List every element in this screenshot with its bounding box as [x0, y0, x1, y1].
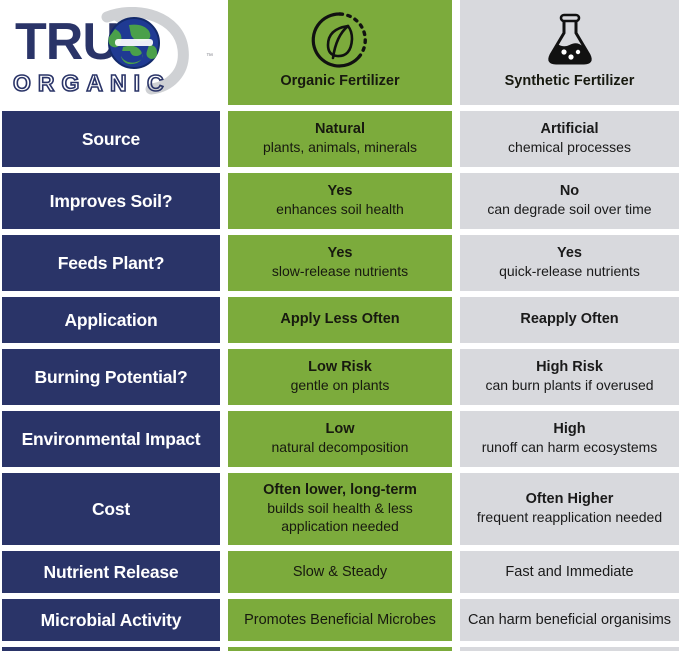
row-organic-cell: Promotes Beneficial Microbes — [228, 599, 452, 641]
cell-sub-text: runoff can harm ecosystems — [482, 439, 658, 457]
row-synthetic-cell: Reapply Often — [460, 297, 679, 343]
cell-sub-text: builds soil health & less application ne… — [234, 500, 446, 535]
row-organic-cell: Low Risk gentle on plants — [228, 349, 452, 405]
cell-sub-text: can burn plants if overused — [485, 377, 653, 395]
row-synthetic-cell: Often Higher frequent reapplication need… — [460, 473, 679, 545]
row-label: Cost — [2, 473, 220, 545]
row-synthetic-cell: High runoff can harm ecosystems — [460, 411, 679, 467]
row-label: Application — [2, 297, 220, 343]
cell-strong-text: High — [553, 421, 585, 439]
flask-icon — [542, 8, 598, 72]
cell-strong-text: No — [560, 183, 579, 201]
column-header-synthetic-label: Synthetic Fertilizer — [505, 73, 635, 89]
svg-text:ORGANIC: ORGANIC — [13, 70, 171, 96]
table-header-row: TRU ORGANIC ™ — [0, 0, 679, 105]
cell-sub-text: gentle on plants — [291, 377, 390, 395]
cell-plain-text: Can harm beneficial organisims — [468, 611, 671, 629]
table-row: Source Natural plants, animals, minerals… — [0, 111, 679, 167]
cell-strong-text: Low — [326, 421, 355, 439]
cell-sub-text: quick-release nutrients — [499, 263, 640, 281]
leaf-in-circle-icon — [311, 8, 369, 72]
row-synthetic-cell: Artificial chemical processes — [460, 111, 679, 167]
row-synthetic-cell: High Risk can burn plants if overused — [460, 349, 679, 405]
table-row: Application Apply Less Often Reapply Oft… — [0, 297, 679, 343]
row-label: Burning Potential? — [2, 349, 220, 405]
cell-strong-text: Artificial — [540, 121, 598, 139]
row-organic-cell: Natural plants, animals, minerals — [228, 111, 452, 167]
row-synthetic-cell: Can harm beneficial organisims — [460, 599, 679, 641]
brand-logo: TRU ORGANIC ™ — [2, 0, 220, 105]
column-header-synthetic: Synthetic Fertilizer — [460, 0, 679, 105]
cell-strong-text: High Risk — [536, 359, 603, 377]
table-row: Improves Soil? Yes enhances soil health … — [0, 173, 679, 229]
row-organic-cell: Low natural decomposition — [228, 411, 452, 467]
cell-strong-text: Often Higher — [526, 491, 614, 509]
cell-plain-text: Slow & Steady — [293, 563, 387, 581]
cell-sub-text: chemical processes — [508, 139, 631, 157]
row-synthetic-cell: Fast and Immediate — [460, 551, 679, 593]
cell-sub-text: plants, animals, minerals — [263, 139, 417, 157]
trademark-symbol: ™ — [206, 53, 213, 60]
row-organic-cell: Yes slow-release nutrients — [228, 235, 452, 291]
cell-strong-text: Apply Less Often — [280, 311, 399, 329]
cell-sub-text: enhances soil health — [276, 201, 404, 219]
cell-sub-text: natural decomposition — [272, 439, 409, 457]
cell-strong-text: Yes — [328, 183, 353, 201]
row-organic-cell: Slow & Steady — [228, 551, 452, 593]
cell-strong-text: Natural — [315, 121, 365, 139]
row-label: Feeds Plant? — [2, 235, 220, 291]
row-organic-cell: Often lower, long-term builds soil healt… — [228, 473, 452, 545]
cell-sub-text: frequent reapplication needed — [477, 509, 662, 527]
row-label: Longevity — [2, 647, 220, 651]
row-label: Environmental Impact — [2, 411, 220, 467]
row-label: Improves Soil? — [2, 173, 220, 229]
row-label: Nutrient Release — [2, 551, 220, 593]
table-row: Feeds Plant? Yes slow-release nutrients … — [0, 235, 679, 291]
row-label: Source — [2, 111, 220, 167]
cell-strong-text: Often lower, long-term — [263, 482, 417, 500]
row-organic-cell: Apply Less Often — [228, 297, 452, 343]
true-organic-logo-icon: TRU ORGANIC — [11, 7, 211, 99]
row-synthetic-cell: No can degrade soil over time — [460, 173, 679, 229]
row-label: Microbial Activity — [2, 599, 220, 641]
cell-strong-text: Yes — [328, 245, 353, 263]
table-row: Longevity Long-lasting soil benefits Sho… — [0, 647, 679, 651]
cell-sub-text: can degrade soil over time — [487, 201, 651, 219]
cell-strong-text: Low Risk — [308, 359, 372, 377]
row-organic-cell: Long-lasting soil benefits — [228, 647, 452, 651]
table-row: Environmental Impact Low natural decompo… — [0, 411, 679, 467]
column-header-organic-label: Organic Fertilizer — [280, 73, 399, 89]
cell-strong-text: Reapply Often — [520, 311, 618, 329]
row-synthetic-cell: Yes quick-release nutrients — [460, 235, 679, 291]
cell-plain-text: Promotes Beneficial Microbes — [244, 611, 436, 629]
table-row: Burning Potential? Low Risk gentle on pl… — [0, 349, 679, 405]
cell-plain-text: Fast and Immediate — [505, 563, 633, 581]
cell-sub-text: slow-release nutrients — [272, 263, 408, 281]
row-organic-cell: Yes enhances soil health — [228, 173, 452, 229]
row-synthetic-cell: Short-term plant boost — [460, 647, 679, 651]
cell-strong-text: Yes — [557, 245, 582, 263]
table-row: Microbial Activity Promotes Beneficial M… — [0, 599, 679, 641]
table-row: Cost Often lower, long-term builds soil … — [0, 473, 679, 545]
fertilizer-comparison-infographic: TRU ORGANIC ™ — [0, 0, 679, 651]
table-row: Nutrient Release Slow & Steady Fast and … — [0, 551, 679, 593]
svg-text:TRU: TRU — [15, 13, 119, 71]
column-header-organic: Organic Fertilizer — [228, 0, 452, 105]
